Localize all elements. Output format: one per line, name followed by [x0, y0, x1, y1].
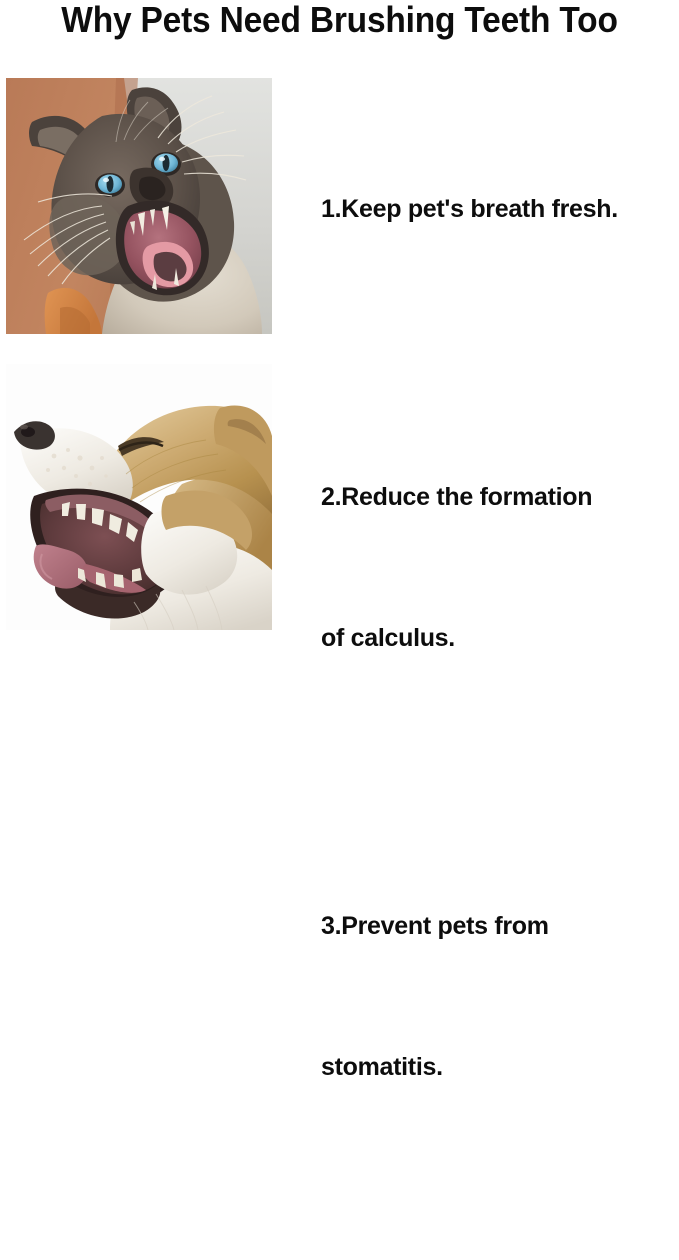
cat-photo — [6, 78, 272, 334]
benefit-item-2: 2.Reduce the formation of calculus. — [321, 380, 679, 756]
cat-photo-illustration — [6, 78, 272, 334]
benefit-3-line-1: 3.Prevent pets from — [321, 903, 679, 950]
benefit-1-line-1: 1.Keep pet's breath fresh. — [321, 186, 679, 233]
dog-photo-illustration — [6, 364, 272, 630]
benefit-2-line-2: of calculus. — [321, 615, 679, 662]
benefit-item-3: 3.Prevent pets from stomatitis. — [321, 809, 679, 1185]
dog-photo — [6, 364, 272, 630]
benefit-2-line-1: 2.Reduce the formation — [321, 474, 679, 521]
page-title: Why Pets Need Brushing Teeth Too — [24, 0, 655, 40]
benefit-item-4: 4.Reduce the risk of other diseases caus… — [321, 1245, 679, 1260]
benefit-item-1: 1.Keep pet's breath fresh. — [321, 92, 679, 327]
benefit-3-line-2: stomatitis. — [321, 1044, 679, 1091]
benefits-list: 1.Keep pet's breath fresh. 2.Reduce the … — [321, 92, 679, 1260]
infographic-page: Why Pets Need Brushing Teeth Too — [0, 0, 679, 630]
